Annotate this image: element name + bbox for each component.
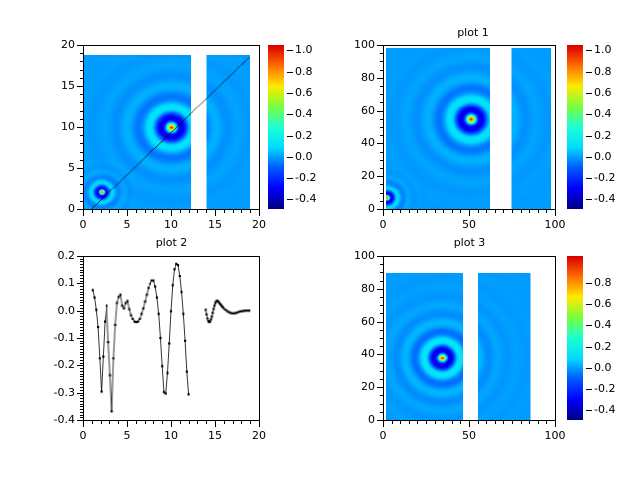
y-axis-tick-label: -0.1 [33,332,75,343]
x-axis-minor-tick [546,209,547,213]
y-axis-minor-tick [80,379,83,380]
colorbar-tick-label: 0.4 [594,108,612,119]
y-axis-minor-tick [380,363,383,364]
x-axis-minor-tick [521,420,522,424]
y-axis-minor-tick [80,275,83,276]
x-axis-minor-tick [109,420,110,424]
y-axis-minor-tick [380,102,383,103]
y-axis-minor-tick [380,111,383,112]
panel-bottom-left: plot 2 0.20.10.0-0.1-0.2-0.3-0.405101520 [0,240,320,480]
y-axis-minor-tick [80,70,83,71]
y-axis-minor-tick [80,415,83,416]
y-axis-minor-tick [80,281,83,282]
y-axis-minor-tick [380,168,383,169]
colorbar-tick [586,50,592,51]
y-axis-minor-tick [80,384,83,385]
x-axis-minor-tick [197,420,198,424]
panel-bottom-left-title: plot 2 [83,236,260,249]
y-axis-minor-tick [80,393,83,394]
colorbar-tick [586,347,592,348]
x-axis-minor-tick [83,209,84,213]
y-axis-minor-tick [380,70,383,71]
y-axis-minor-tick [380,330,383,331]
colorbar-tick [586,93,592,94]
y-axis-minor-tick [80,259,83,260]
y-axis-minor-tick [380,143,383,144]
y-axis-tick-label: 15 [33,80,75,91]
x-axis-minor-tick [241,209,242,213]
colorbar-tick-label: -0.2 [594,172,615,183]
x-axis-minor-tick [435,420,436,424]
y-axis-minor-tick [380,152,383,153]
x-axis-minor-tick [452,209,453,213]
y-axis-minor-tick [80,119,83,120]
y-axis-minor-tick [380,404,383,405]
y-axis-minor-tick [80,409,83,410]
lineplot-bottom-left [84,257,259,420]
y-axis-minor-tick [380,193,383,194]
y-axis-minor-tick [380,354,383,355]
colorbar-tick-label: 0.8 [295,66,313,77]
colorbar-tick-label: 0.2 [295,130,313,141]
y-axis-tick-label: -0.2 [33,359,75,370]
y-axis-minor-tick [80,324,83,325]
x-axis-minor-tick [495,209,496,213]
y-axis-tick-label: 20 [33,39,75,50]
y-axis-tick-label: 0 [333,203,375,214]
y-axis-tick-label: 40 [333,137,375,148]
x-axis-minor-tick [409,209,410,213]
x-axis-minor-tick [259,209,260,213]
y-axis-minor-tick [380,322,383,323]
y-axis-minor-tick [80,374,83,375]
x-axis-minor-tick [443,209,444,213]
y-axis-tick-label: 100 [333,39,375,50]
x-axis-minor-tick [443,420,444,424]
y-axis-minor-tick [380,264,383,265]
y-axis-minor-tick [80,308,83,309]
x-axis-minor-tick [197,209,198,213]
y-axis-minor-tick [80,371,83,372]
y-axis-minor-tick [80,102,83,103]
y-axis-minor-tick [80,333,83,334]
colorbar-tick-label: 0.8 [594,66,612,77]
y-axis-minor-tick [80,270,83,271]
y-axis-minor-tick [80,168,83,169]
y-axis-minor-tick [80,319,83,320]
y-axis-minor-tick [380,78,383,79]
y-axis-minor-tick [80,406,83,407]
x-axis-minor-tick [224,209,225,213]
y-axis-minor-tick [80,354,83,355]
y-axis-minor-tick [80,349,83,350]
x-axis-minor-tick [180,420,181,424]
x-axis-minor-tick [538,209,539,213]
y-axis-minor-tick [80,330,83,331]
y-axis-minor-tick [380,289,383,290]
y-axis-minor-tick [80,316,83,317]
colorbar-bottom-right: 0.80.60.40.20.0-0.2-0.4 [567,256,627,422]
y-axis-minor-tick [80,368,83,369]
x-axis-minor-tick [417,209,418,213]
x-axis-minor-tick [136,420,137,424]
y-axis-tick-label: -0.4 [33,414,75,425]
x-axis-minor-tick [83,420,84,424]
colorbar-top-left: 1.00.80.60.40.20.0-0.2-0.4 [268,45,320,211]
heatmap-bottom-right [384,257,555,420]
y-axis-minor-tick [80,363,83,364]
y-axis-minor-tick [380,184,383,185]
colorbar-top-right: 1.00.80.60.40.20.0-0.2-0.4 [567,45,627,211]
x-axis-tick-label: 5 [107,430,147,441]
y-axis-minor-tick [80,305,83,306]
y-axis-minor-tick [80,127,83,128]
x-axis-minor-tick [206,420,207,424]
y-axis-tick-label: 20 [333,170,375,181]
colorbar-tick [586,389,592,390]
x-axis-minor-tick [478,420,479,424]
x-axis-tick-label: 20 [239,430,279,441]
x-axis-tick-label: 100 [535,430,575,441]
colorbar-tick [287,72,293,73]
y-axis-minor-tick [80,387,83,388]
y-axis-minor-tick [80,343,83,344]
y-axis-minor-tick [80,292,83,293]
panel-bottom-right-title: plot 3 [383,236,556,249]
x-axis-minor-tick [452,420,453,424]
x-axis-tick-label: 15 [195,219,235,230]
x-axis-minor-tick [145,420,146,424]
x-axis-minor-tick [127,209,128,213]
y-axis-minor-tick [80,160,83,161]
x-axis-minor-tick [426,209,427,213]
y-axis-minor-tick [380,412,383,413]
y-axis-minor-tick [380,281,383,282]
y-axis-minor-tick [80,53,83,54]
colorbar-tick-label: -0.4 [594,404,615,415]
y-axis-minor-tick [80,376,83,377]
colorbar-tick [287,93,293,94]
y-axis-minor-tick [80,352,83,353]
panel-top-right-title: plot 1 [383,26,563,39]
y-axis-minor-tick [80,382,83,383]
y-axis-tick-label: 60 [333,105,375,116]
colorbar-tick-label: 0.8 [594,277,612,288]
colorbar-tick-label: -0.4 [295,193,316,204]
y-axis-minor-tick [80,338,83,339]
y-axis-minor-tick [80,357,83,358]
y-axis-tick-label: 60 [333,316,375,327]
colorbar-tick [586,199,592,200]
colorbar-tick-label: -0.2 [594,383,615,394]
x-axis-minor-tick [392,420,393,424]
heatmap-top-right [384,46,555,209]
x-axis-minor-tick [153,209,154,213]
y-axis-minor-tick [80,201,83,202]
colorbar-tick [586,157,592,158]
x-axis-minor-tick [486,209,487,213]
x-axis-minor-tick [495,420,496,424]
y-axis-minor-tick [380,45,383,46]
colorbar-tick [586,283,592,284]
colorbar-tick [586,72,592,73]
y-axis-minor-tick [80,398,83,399]
colorbar-tick [586,368,592,369]
colorbar-tick-label: 0.6 [295,87,313,98]
x-axis-minor-tick [400,420,401,424]
x-axis-minor-tick [259,420,260,424]
y-axis-minor-tick [80,267,83,268]
y-axis-minor-tick [80,412,83,413]
y-axis-minor-tick [80,152,83,153]
y-axis-minor-tick [80,135,83,136]
y-axis-minor-tick [80,327,83,328]
colorbar-tick-label: 0.0 [295,151,313,162]
y-axis-tick-label: 80 [333,72,375,83]
x-axis-minor-tick [215,209,216,213]
colorbar-tick-label: -0.2 [295,172,316,183]
x-axis-minor-tick [136,209,137,213]
colorbar-tick-label: 0.2 [594,130,612,141]
x-axis-minor-tick [546,420,547,424]
x-axis-minor-tick [118,420,119,424]
x-axis-minor-tick [171,420,172,424]
x-axis-minor-tick [469,209,470,213]
y-axis-minor-tick [380,94,383,95]
x-axis-minor-tick [162,420,163,424]
y-axis-minor-tick [80,365,83,366]
colorbar-tick [287,178,293,179]
x-axis-minor-tick [460,209,461,213]
colorbar-tick [586,325,592,326]
y-axis-minor-tick [380,313,383,314]
x-axis-minor-tick [92,420,93,424]
colorbar-tick-label: 0.6 [594,87,612,98]
x-axis-minor-tick [529,420,530,424]
x-axis-minor-tick [127,420,128,424]
x-axis-minor-tick [224,420,225,424]
y-axis-minor-tick [80,294,83,295]
colorbar-tick [586,410,592,411]
x-axis-minor-tick [435,209,436,213]
y-axis-minor-tick [380,305,383,306]
x-axis-minor-tick [529,209,530,213]
x-axis-tick-label: 50 [449,219,489,230]
x-axis-minor-tick [555,209,556,213]
x-axis-tick-label: 10 [151,219,191,230]
x-axis-minor-tick [538,420,539,424]
y-axis-minor-tick [80,193,83,194]
y-axis-tick-label: 80 [333,283,375,294]
x-axis-tick-label: 0 [363,219,403,230]
x-axis-minor-tick [417,420,418,424]
y-axis-minor-tick [80,297,83,298]
x-axis-minor-tick [233,420,234,424]
y-axis-minor-tick [80,335,83,336]
colorbar-tick-label: 0.2 [594,341,612,352]
y-axis-tick-label: 10 [33,121,75,132]
y-axis-minor-tick [80,283,83,284]
y-axis-minor-tick [80,272,83,273]
colorbar-tick [287,50,293,51]
x-axis-tick-label: 5 [107,219,147,230]
y-axis-minor-tick [80,417,83,418]
x-axis-minor-tick [109,209,110,213]
y-axis-minor-tick [80,289,83,290]
x-axis-tick-label: 20 [239,219,279,230]
y-axis-minor-tick [80,264,83,265]
x-axis-minor-tick [503,209,504,213]
y-axis-minor-tick [80,395,83,396]
y-axis-minor-tick [80,143,83,144]
x-axis-minor-tick [145,209,146,213]
x-axis-minor-tick [233,209,234,213]
x-axis-minor-tick [250,209,251,213]
colorbar-tick-label: 0.0 [594,362,612,373]
y-axis-minor-tick [80,256,83,257]
x-axis-minor-tick [555,420,556,424]
y-axis-minor-tick [80,313,83,314]
x-axis-minor-tick [162,209,163,213]
y-axis-minor-tick [80,360,83,361]
y-axis-minor-tick [380,176,383,177]
y-axis-tick-label: 20 [333,381,375,392]
x-axis-minor-tick [171,209,172,213]
colorbar-tick-label: 0.6 [594,298,612,309]
x-axis-minor-tick [118,209,119,213]
x-axis-tick-label: 10 [151,430,191,441]
y-axis-minor-tick [380,387,383,388]
y-axis-tick-label: 5 [33,162,75,173]
x-axis-minor-tick [101,420,102,424]
x-axis-tick-label: 0 [63,430,103,441]
x-axis-minor-tick [153,420,154,424]
x-axis-minor-tick [512,420,513,424]
colorbar-tick [586,304,592,305]
colorbar-tick-label: -0.4 [594,193,615,204]
x-axis-minor-tick [512,209,513,213]
x-axis-minor-tick [101,209,102,213]
x-axis-tick-label: 0 [363,430,403,441]
colorbar-bottom-right-gradient [567,256,583,420]
colorbar-tick [287,136,293,137]
x-axis-minor-tick [241,420,242,424]
colorbar-tick-label: 0.0 [594,151,612,162]
y-axis-minor-tick [380,53,383,54]
x-axis-minor-tick [521,209,522,213]
colorbar-tick [287,114,293,115]
colorbar-top-left-gradient [268,45,284,209]
y-axis-minor-tick [80,404,83,405]
y-axis-minor-tick [380,272,383,273]
x-axis-minor-tick [478,209,479,213]
x-axis-minor-tick [189,209,190,213]
y-axis-minor-tick [80,300,83,301]
x-axis-minor-tick [383,420,384,424]
y-axis-minor-tick [380,160,383,161]
y-axis-minor-tick [80,111,83,112]
x-axis-tick-label: 15 [195,430,235,441]
y-axis-minor-tick [380,127,383,128]
x-axis-minor-tick [206,209,207,213]
y-axis-minor-tick [80,61,83,62]
y-axis-minor-tick [380,371,383,372]
x-axis-minor-tick [486,420,487,424]
y-axis-minor-tick [380,86,383,87]
x-axis-minor-tick [426,420,427,424]
y-axis-minor-tick [80,286,83,287]
y-axis-minor-tick [80,346,83,347]
colorbar-tick [586,178,592,179]
y-axis-tick-label: 0 [33,203,75,214]
heatmap-top-left [84,46,259,209]
x-axis-minor-tick [469,420,470,424]
x-axis-minor-tick [180,209,181,213]
y-axis-minor-tick [80,302,83,303]
y-axis-minor-tick [80,341,83,342]
x-axis-minor-tick [409,420,410,424]
x-axis-minor-tick [503,420,504,424]
colorbar-tick-label: 0.4 [594,319,612,330]
x-axis-minor-tick [460,420,461,424]
y-axis-minor-tick [380,395,383,396]
y-axis-minor-tick [380,119,383,120]
y-axis-minor-tick [80,278,83,279]
y-axis-minor-tick [80,176,83,177]
y-axis-tick-label: 0.2 [33,250,75,261]
x-axis-minor-tick [189,420,190,424]
y-axis-minor-tick [80,78,83,79]
y-axis-minor-tick [80,184,83,185]
colorbar-tick-label: 1.0 [295,44,313,55]
y-axis-minor-tick [80,311,83,312]
colorbar-tick [586,136,592,137]
y-axis-tick-label: 0 [333,414,375,425]
y-axis-minor-tick [380,61,383,62]
colorbar-tick [287,199,293,200]
y-axis-minor-tick [380,297,383,298]
y-axis-minor-tick [380,201,383,202]
x-axis-tick-label: 0 [63,219,103,230]
colorbar-top-right-gradient [567,45,583,209]
figure-canvas: 0510152005101520 1.00.80.60.40.20.0-0.2-… [0,0,640,480]
y-axis-minor-tick [380,338,383,339]
y-axis-tick-label: 0.0 [33,305,75,316]
y-axis-minor-tick [80,86,83,87]
x-axis-minor-tick [92,209,93,213]
colorbar-tick [287,157,293,158]
x-axis-minor-tick [400,209,401,213]
y-axis-minor-tick [380,256,383,257]
y-axis-tick-label: 100 [333,250,375,261]
x-axis-minor-tick [215,420,216,424]
y-axis-minor-tick [380,135,383,136]
y-axis-minor-tick [80,390,83,391]
y-axis-minor-tick [380,346,383,347]
x-axis-tick-label: 50 [449,430,489,441]
y-axis-tick-label: -0.3 [33,387,75,398]
colorbar-tick [586,114,592,115]
colorbar-tick-label: 0.4 [295,108,313,119]
y-axis-minor-tick [80,94,83,95]
y-axis-minor-tick [80,45,83,46]
colorbar-tick-label: 1.0 [594,44,612,55]
y-axis-tick-label: 40 [333,348,375,359]
y-axis-minor-tick [80,401,83,402]
x-axis-minor-tick [392,209,393,213]
x-axis-minor-tick [250,420,251,424]
x-axis-tick-label: 100 [535,219,575,230]
